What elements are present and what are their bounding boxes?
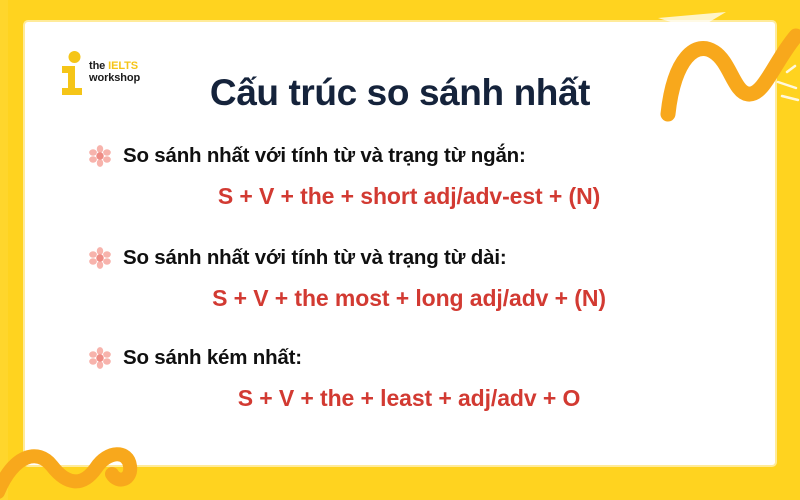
- logo-wordmark: the IELTS workshop: [89, 61, 140, 85]
- content-card: the IELTS workshop Cấu trúc so sánh nhất: [25, 22, 775, 465]
- section-formula-text: S + V + the + least + adj/adv + O: [25, 385, 775, 412]
- section-heading-text: So sánh nhất với tính từ và trạng từ ngắ…: [123, 144, 526, 168]
- sparkle-icon: [778, 66, 798, 100]
- sections-container: So sánh nhất với tính từ và trạng từ ngắ…: [25, 138, 775, 416]
- section-heading-row: So sánh nhất với tính từ và trạng từ dài…: [25, 240, 775, 276]
- section-least-comparison: So sánh kém nhất: S + V + the + least + …: [25, 340, 775, 412]
- logo-workshop-text: workshop: [89, 73, 140, 85]
- section-heading-row: So sánh kém nhất:: [25, 340, 775, 376]
- section-short-adjective: So sánh nhất với tính từ và trạng từ ngắ…: [25, 138, 775, 210]
- section-formula-text: S + V + the most + long adj/adv + (N): [25, 285, 775, 312]
- poster-root: the IELTS workshop Cấu trúc so sánh nhất: [0, 0, 800, 500]
- section-long-adjective: So sánh nhất với tính từ và trạng từ dài…: [25, 240, 775, 312]
- section-heading-text: So sánh nhất với tính từ và trạng từ dài…: [123, 246, 506, 270]
- logo-the-text: the: [89, 60, 108, 72]
- logo-ielts-text: IELTS: [108, 60, 138, 72]
- section-heading-row: So sánh nhất với tính từ và trạng từ ngắ…: [25, 138, 775, 174]
- flower-bullet-icon: [89, 247, 111, 269]
- section-formula-text: S + V + the + short adj/adv-est + (N): [25, 183, 775, 210]
- flower-bullet-icon: [89, 145, 111, 167]
- brand-logo: the IELTS workshop: [58, 50, 140, 96]
- letter-i-logo-icon: [58, 50, 84, 96]
- flower-bullet-icon: [89, 347, 111, 369]
- section-heading-text: So sánh kém nhất:: [123, 346, 302, 370]
